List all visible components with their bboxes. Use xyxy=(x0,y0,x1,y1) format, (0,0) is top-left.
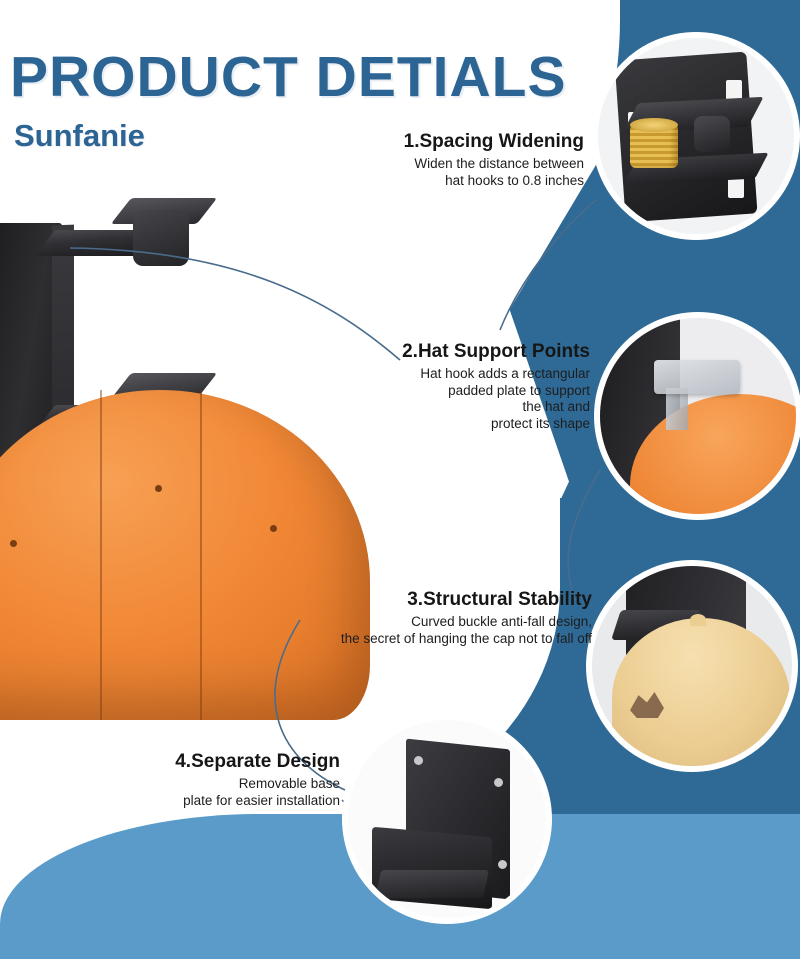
callout-4-number: 4. xyxy=(175,751,191,772)
callout-2-heading: 2.Hat Support Points xyxy=(402,341,590,363)
callout-1: 1.Spacing Widening Widen the distance be… xyxy=(384,131,584,189)
callout-4-heading: 4.Separate Design xyxy=(175,751,340,773)
inset-photo-spacing-widening xyxy=(598,38,794,234)
callout-2-title: Hat Support Points xyxy=(418,341,590,362)
inset-photo-separate-design xyxy=(348,720,546,918)
callout-1-heading: 1.Spacing Widening xyxy=(404,131,584,153)
callout-3-heading: 3.Structural Stability xyxy=(407,589,592,611)
beige-cap xyxy=(612,618,790,766)
callout-1-title: Spacing Widening xyxy=(420,131,585,152)
callout-3: 3.Structural Stability Curved buckle ant… xyxy=(276,589,592,647)
inset-photo-structural-stability xyxy=(592,566,792,766)
brand-name: Sunfanie xyxy=(14,118,145,154)
callout-4: 4.Separate Design Removable base plate f… xyxy=(156,751,340,809)
inset-photo-hat-support-points xyxy=(600,318,796,514)
callout-1-body: Widen the distance between hat hooks to … xyxy=(384,156,584,189)
clear-padded-plate xyxy=(654,360,740,394)
callout-4-body: Removable base plate for easier installa… xyxy=(156,776,340,809)
hero-orange-cap xyxy=(0,390,370,720)
callout-3-title: Structural Stability xyxy=(423,589,592,610)
callout-4-title: Separate Design xyxy=(191,751,340,772)
callout-1-number: 1. xyxy=(404,131,420,152)
hero-hook-top xyxy=(45,210,195,268)
callout-2-number: 2. xyxy=(402,341,418,362)
callout-3-body: Curved buckle anti-fall design, the secr… xyxy=(276,614,592,647)
callout-3-number: 3. xyxy=(407,589,423,610)
callout-2-body: Hat hook adds a rectangular padded plate… xyxy=(392,366,590,432)
product-details-infographic: PRODUCT DETIALS Sunfanie xyxy=(0,0,800,959)
page-title: PRODUCT DETIALS xyxy=(10,44,567,110)
clear-pad-stem xyxy=(666,388,688,430)
callout-2: 2.Hat Support Points Hat hook adds a rec… xyxy=(392,341,590,432)
